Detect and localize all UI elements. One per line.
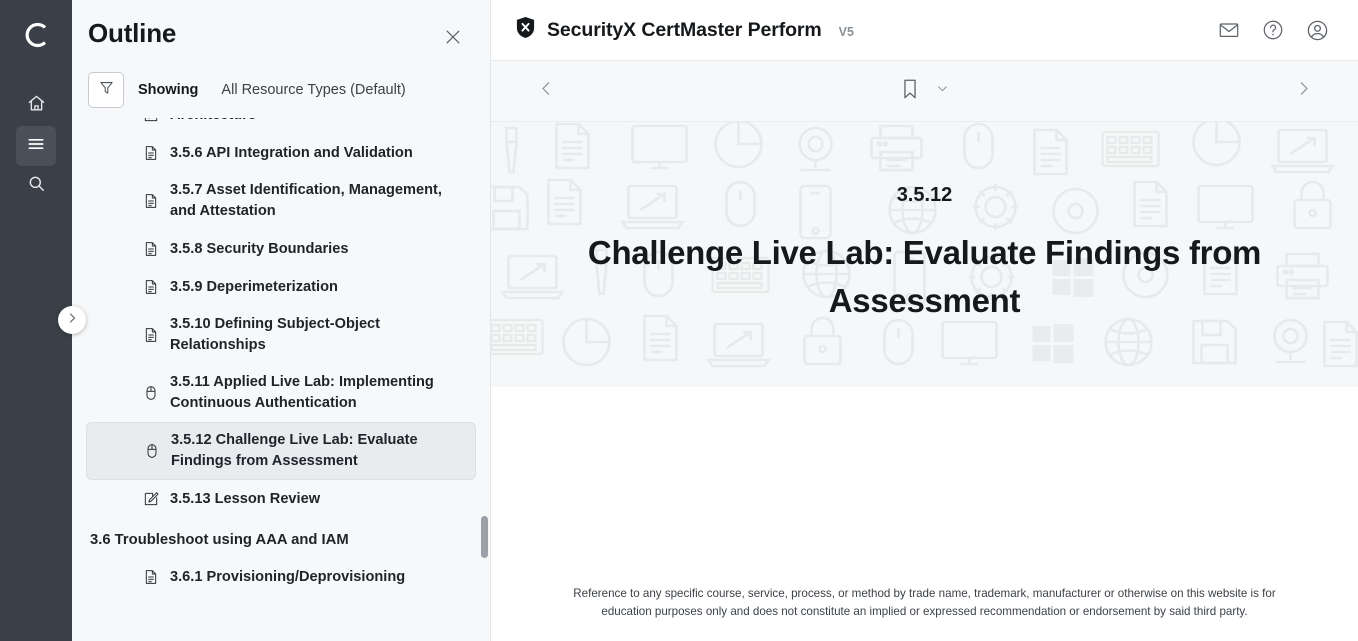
filter-icon bbox=[98, 79, 115, 101]
previous-page-button[interactable] bbox=[531, 76, 561, 106]
outline-item-label: 3.5.13 Lesson Review bbox=[144, 489, 320, 510]
brand: SecurityX CertMaster Perform V5 bbox=[515, 16, 854, 44]
header-actions bbox=[1216, 17, 1330, 43]
bookmark-icon bbox=[900, 78, 920, 105]
bookmark-dropdown-button[interactable] bbox=[936, 82, 949, 100]
rail-item-search[interactable] bbox=[16, 166, 56, 206]
filter-row: Showing All Resource Types (Default) bbox=[72, 62, 490, 118]
disclaimer-text: Reference to any specific course, servic… bbox=[491, 585, 1358, 641]
app-root: Outline Showing All Resource Types (Defa… bbox=[0, 0, 1358, 641]
outline-item[interactable]: 3.5.9 Deperimeterization bbox=[86, 268, 476, 306]
outline-item[interactable]: Architecture bbox=[86, 118, 476, 134]
lesson-title: Challenge Live Lab: Evaluate Findings fr… bbox=[555, 229, 1295, 325]
rail-item-outline[interactable] bbox=[16, 126, 56, 166]
document-icon bbox=[142, 279, 159, 296]
outline-scrollbar[interactable] bbox=[481, 116, 488, 641]
brand-version: V5 bbox=[839, 21, 854, 39]
lesson-number: 3.5.12 bbox=[897, 184, 953, 207]
app-header: SecurityX CertMaster Perform V5 bbox=[491, 0, 1358, 60]
outline-item-label: 3.5.11 Applied Live Lab: Implementing Co… bbox=[144, 372, 464, 414]
outline-item-label: 3.5.10 Defining Subject-Object Relations… bbox=[144, 314, 464, 356]
comptia-c-logo[interactable] bbox=[14, 13, 58, 57]
brand-title: SecurityX CertMaster Perform bbox=[547, 19, 822, 42]
filter-button[interactable] bbox=[88, 72, 124, 108]
next-page-button[interactable] bbox=[1288, 76, 1318, 106]
outline-item-label: 3.5.7 Asset Identification, Management, … bbox=[144, 180, 464, 222]
outline-section-header: 3.6 Troubleshoot using AAA and IAM bbox=[86, 518, 476, 558]
main-area: SecurityX CertMaster Perform V5 bbox=[491, 0, 1358, 641]
chevron-right-icon bbox=[66, 311, 78, 329]
search-icon bbox=[27, 174, 46, 198]
edit-icon bbox=[142, 118, 159, 124]
lesson-content bbox=[491, 387, 1358, 585]
outline-list: Architecture3.5.6 API Integration and Va… bbox=[72, 118, 490, 641]
lesson-hero-banner: 3.5.12 Challenge Live Lab: Evaluate Find… bbox=[491, 122, 1358, 387]
outline-item-label: 3.5.6 API Integration and Validation bbox=[144, 143, 413, 164]
outline-item-selected[interactable]: 3.5.12 Challenge Live Lab: Evaluate Find… bbox=[86, 422, 476, 480]
bookmark-button[interactable] bbox=[900, 78, 920, 105]
outline-item-label: 3.5.12 Challenge Live Lab: Evaluate Find… bbox=[145, 430, 463, 472]
chevron-down-icon bbox=[936, 82, 949, 100]
outline-item[interactable]: 3.5.7 Asset Identification, Management, … bbox=[86, 172, 476, 230]
collapse-panel-button[interactable] bbox=[58, 306, 86, 334]
outline-item[interactable]: 3.5.13 Lesson Review bbox=[86, 480, 476, 518]
bookmark-controls bbox=[491, 78, 1358, 105]
chevron-left-icon bbox=[538, 80, 555, 102]
close-icon[interactable] bbox=[440, 24, 466, 50]
document-icon bbox=[142, 327, 159, 344]
document-icon bbox=[142, 569, 159, 586]
showing-label: Showing bbox=[138, 82, 198, 98]
outline-panel: Outline Showing All Resource Types (Defa… bbox=[72, 0, 491, 641]
page-title: Outline bbox=[88, 18, 176, 49]
account-icon[interactable] bbox=[1304, 17, 1330, 43]
document-icon bbox=[142, 145, 159, 162]
chevron-right-icon bbox=[1295, 80, 1312, 102]
document-icon bbox=[142, 193, 159, 210]
outline-item[interactable]: 3.5.11 Applied Live Lab: Implementing Co… bbox=[86, 364, 476, 422]
scrollbar-thumb[interactable] bbox=[481, 516, 488, 558]
outline-item-label: 3.6.1 Provisioning/Deprovisioning bbox=[144, 567, 405, 588]
help-icon[interactable] bbox=[1260, 17, 1286, 43]
outline-item-label: Architecture bbox=[144, 118, 256, 126]
outline-item[interactable]: 3.5.6 API Integration and Validation bbox=[86, 134, 476, 172]
outline-item[interactable]: 3.6.1 Provisioning/Deprovisioning bbox=[86, 558, 476, 596]
outline-item[interactable]: 3.5.10 Defining Subject-Object Relations… bbox=[86, 306, 476, 364]
outline-item-label: 3.5.9 Deperimeterization bbox=[144, 277, 338, 298]
outline-item[interactable]: 3.5.8 Security Boundaries bbox=[86, 230, 476, 268]
rail-item-home[interactable] bbox=[16, 86, 56, 126]
outline-item-label: 3.5.8 Security Boundaries bbox=[144, 239, 348, 260]
showing-value[interactable]: All Resource Types (Default) bbox=[221, 82, 405, 98]
edit-icon bbox=[142, 491, 159, 508]
home-icon bbox=[27, 94, 46, 118]
outline-header: Outline bbox=[72, 0, 490, 62]
page-navigation-bar bbox=[491, 60, 1358, 122]
mouse-icon bbox=[142, 385, 159, 402]
shield-x-icon bbox=[515, 16, 536, 44]
mouse-icon bbox=[143, 443, 160, 460]
outline-icon bbox=[26, 134, 46, 159]
mail-icon[interactable] bbox=[1216, 17, 1242, 43]
document-icon bbox=[142, 241, 159, 258]
